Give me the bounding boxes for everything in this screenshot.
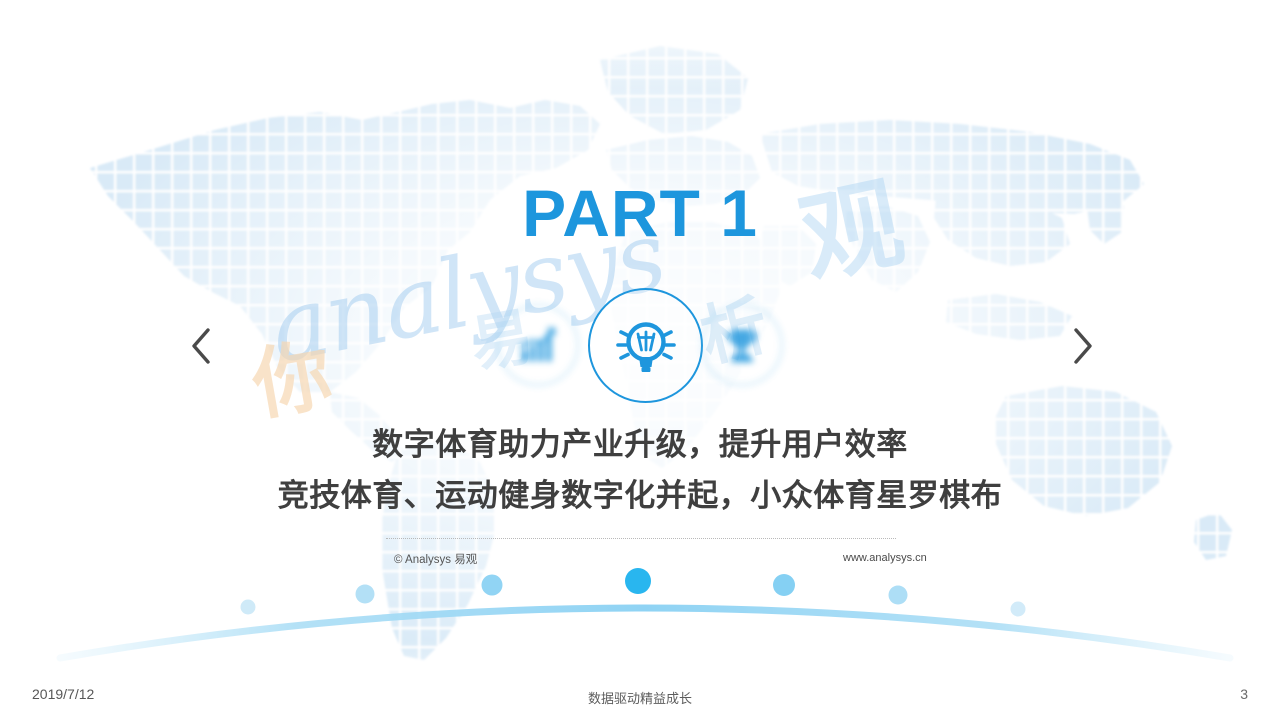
- copyright-text: © Analysys 易观: [394, 551, 477, 567]
- progress-dot[interactable]: [356, 585, 375, 604]
- trophy-glyph: [720, 323, 764, 367]
- headline-block: 数字体育助力产业升级，提升用户效率 竞技体育、运动健身数字化并起，小众体育星罗棋…: [0, 424, 1280, 518]
- chevron-left-glyph: [188, 326, 214, 366]
- headline-primary: 数字体育助力产业升级，提升用户效率: [0, 424, 1280, 467]
- headline-secondary: 竞技体育、运动健身数字化并起，小众体育星罗棋布: [0, 475, 1280, 518]
- section-icon-carousel: [495, 288, 785, 403]
- progress-dot[interactable]: [1011, 602, 1026, 617]
- chevron-right-glyph: [1070, 326, 1096, 366]
- chevron-right-icon[interactable]: [1060, 318, 1106, 374]
- progress-dot[interactable]: [773, 574, 795, 596]
- slide-footer: 2019/7/12 数据驱动精益成长 3: [0, 676, 1280, 720]
- progress-dot-active[interactable]: [625, 568, 651, 594]
- bar-chart-growth-icon[interactable]: [497, 304, 579, 386]
- bar-chart-growth-glyph: [516, 323, 560, 367]
- watermark-cn-ni: 你: [243, 312, 339, 436]
- progress-dots: [241, 568, 1026, 617]
- progress-dot[interactable]: [482, 575, 503, 596]
- part-title: PART 1: [0, 180, 1280, 246]
- page-number: 3: [1240, 686, 1248, 702]
- trophy-icon[interactable]: [701, 304, 783, 386]
- chevron-left-icon[interactable]: [178, 318, 224, 374]
- website-url[interactable]: www.analysys.cn: [843, 552, 927, 564]
- dotted-divider: [386, 538, 896, 539]
- footer-tagline: 数据驱动精益成长: [0, 688, 1280, 707]
- lightbulb-icon[interactable]: [588, 288, 703, 403]
- lightbulb-glyph: [610, 310, 682, 382]
- progress-dot[interactable]: [889, 586, 908, 605]
- slide-canvas: analysys 观 析 易 你 PART 1: [0, 0, 1280, 720]
- progress-arc: [0, 540, 1280, 670]
- progress-dot[interactable]: [241, 600, 256, 615]
